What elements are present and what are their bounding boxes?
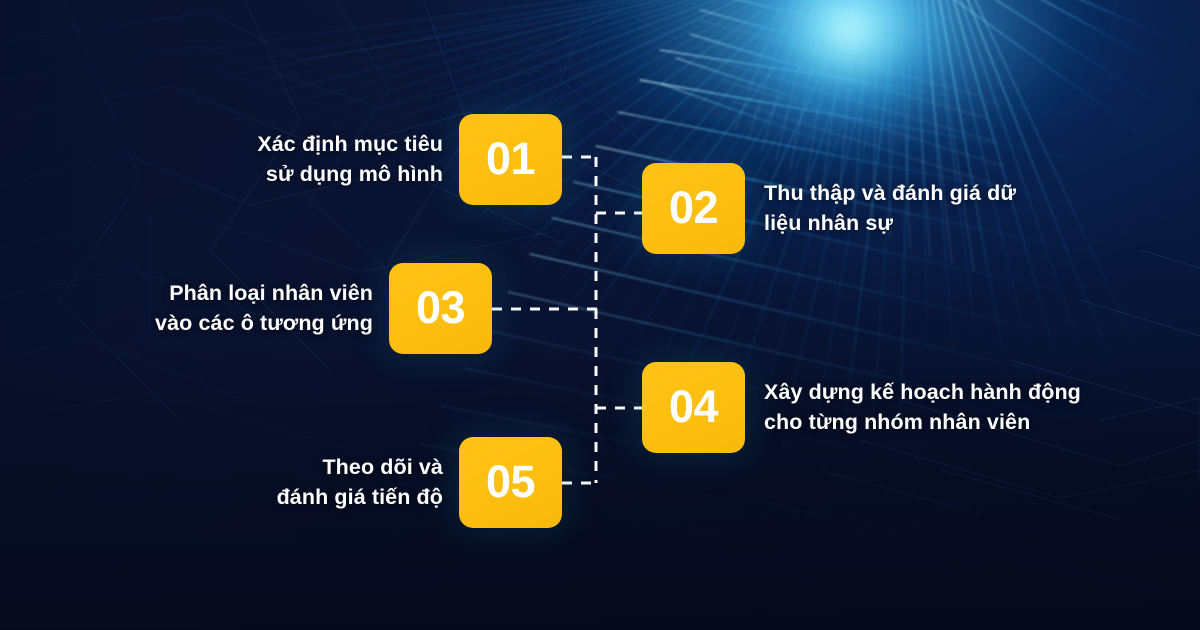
step-label-03: Phân loại nhân viên vào các ô tương ứng [155, 279, 373, 337]
infographic-canvas: Xác định mục tiêu sử dụng mô hình 01 02 … [0, 0, 1200, 630]
step-item-01[interactable]: Xác định mục tiêu sử dụng mô hình 01 [0, 114, 562, 205]
step-number-box-01[interactable]: 01 [459, 114, 562, 205]
step-item-05[interactable]: Theo dõi và đánh giá tiến độ 05 [0, 437, 562, 528]
step-number-05: 05 [486, 459, 535, 504]
step-number-04: 04 [669, 384, 718, 429]
step-number-02: 02 [669, 185, 718, 230]
step-label-02: Thu thập và đánh giá dữ liệu nhân sự [764, 179, 1016, 237]
step-item-02[interactable]: 02 Thu thập và đánh giá dữ liệu nhân sự [642, 163, 1016, 254]
step-item-03[interactable]: Phân loại nhân viên vào các ô tương ứng … [0, 263, 492, 354]
step-label-01: Xác định mục tiêu sử dụng mô hình [257, 130, 443, 188]
step-number-box-03[interactable]: 03 [389, 263, 492, 354]
step-label-04: Xây dựng kế hoạch hành động cho từng nhó… [764, 378, 1081, 436]
step-number-01: 01 [486, 136, 535, 181]
step-number-box-02[interactable]: 02 [642, 163, 745, 254]
step-item-04[interactable]: 04 Xây dựng kế hoạch hành động cho từng … [642, 362, 1081, 453]
step-number-box-05[interactable]: 05 [459, 437, 562, 528]
step-number-box-04[interactable]: 04 [642, 362, 745, 453]
step-number-03: 03 [416, 285, 465, 330]
step-label-05: Theo dõi và đánh giá tiến độ [277, 453, 443, 511]
